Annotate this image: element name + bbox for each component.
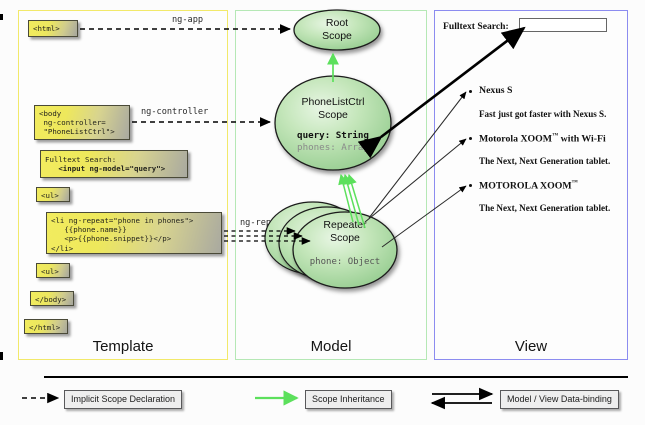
view-phone-name-2-text: MOTOROLA XOOM bbox=[479, 180, 572, 191]
angularjs-databinding-diagram: Template Model View <html> <body ng-cont… bbox=[0, 0, 645, 425]
left-edge-tick-top bbox=[0, 14, 3, 20]
code-box-body-open[interactable]: <body ng-controller= "PhoneListCtrl"> bbox=[34, 105, 130, 140]
view-search-label: Fulltext Search: bbox=[443, 21, 509, 32]
code-box-search-input[interactable]: Fulltext Search: <input ng-model="query"… bbox=[40, 150, 188, 178]
view-phone-name-1: Motorola XOOM™ with Wi-Fi bbox=[479, 132, 606, 144]
view-phone-name-0: Nexus S bbox=[479, 85, 512, 96]
view-phone-snippet-0: Fast just got faster with Nexus S. bbox=[479, 109, 606, 119]
view-phone-snippet-1: The Next, Next Generation tablet. bbox=[479, 156, 610, 166]
view-phone-name-1-suffix: with Wi-Fi bbox=[558, 133, 606, 144]
trademark-icon-2: ™ bbox=[572, 179, 578, 186]
code-box-html-close[interactable]: </html> bbox=[24, 319, 68, 334]
legend-item-scope-inheritance: Scope Inheritance bbox=[305, 390, 392, 409]
view-search-input[interactable] bbox=[519, 18, 607, 32]
code-box-ul-close[interactable]: <ul> bbox=[36, 263, 70, 278]
code-box-search-line2: <input ng-model="query"> bbox=[58, 164, 165, 173]
column-label-view: View bbox=[435, 338, 627, 355]
view-bullet-0 bbox=[469, 90, 472, 93]
legend-divider bbox=[44, 376, 628, 378]
view-bullet-1 bbox=[469, 137, 472, 140]
edge-label-ng-app: ng-app bbox=[172, 15, 203, 25]
code-box-html-open[interactable]: <html> bbox=[28, 20, 78, 37]
view-phone-snippet-2: The Next, Next Generation tablet. bbox=[479, 203, 610, 213]
view-phone-name-2: MOTOROLA XOOM™ bbox=[479, 179, 578, 191]
column-label-model: Model bbox=[236, 338, 426, 355]
column-model: Model bbox=[235, 10, 427, 360]
code-box-ul-open[interactable]: <ul> bbox=[36, 187, 70, 202]
legend-item-implicit-scope-declaration: Implicit Scope Declaration bbox=[64, 390, 182, 409]
column-template: Template bbox=[18, 10, 228, 360]
view-bullet-2 bbox=[469, 184, 472, 187]
code-box-body-close[interactable]: </body> bbox=[30, 291, 74, 306]
view-phone-name-1-text: Motorola XOOM bbox=[479, 133, 552, 144]
code-box-li-repeat[interactable]: <li ng-repeat="phone in phones"> {{phone… bbox=[46, 212, 222, 254]
column-label-template: Template bbox=[19, 338, 227, 355]
legend-item-model-view-data-binding: Model / View Data-binding bbox=[500, 390, 619, 409]
edge-label-ng-repeat: ng-repeat bbox=[240, 218, 287, 228]
edge-label-ng-controller: ng-controller bbox=[141, 107, 208, 117]
code-box-search-line1: Fulltext Search: bbox=[45, 155, 116, 164]
left-edge-tick-bottom bbox=[0, 352, 3, 360]
